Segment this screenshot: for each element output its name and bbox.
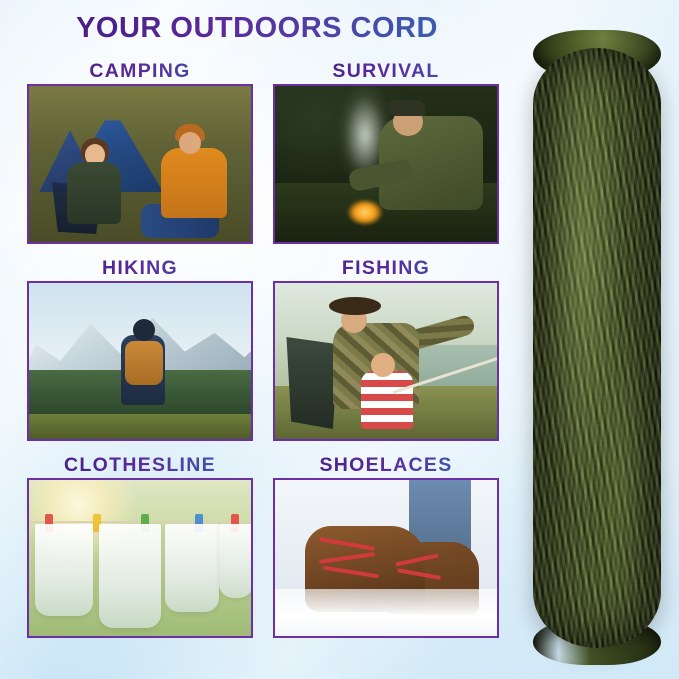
photo-clothesline — [27, 478, 253, 638]
photo-survival — [273, 84, 499, 244]
hanging-garment — [165, 524, 219, 612]
use-case-hiking: HIKING — [14, 255, 266, 452]
survival-man-cap — [387, 100, 425, 116]
survival-campfire — [342, 192, 388, 226]
photo-shoelaces — [273, 478, 499, 638]
page-title: YOUR OUTDOORS CORD — [0, 12, 514, 45]
product-infographic: YOUR OUTDOORS CORD CAMPING — [0, 0, 679, 679]
use-case-label-survival: SURVIVAL — [266, 58, 506, 84]
fishing-man-hat — [329, 297, 381, 315]
camping-woman-body — [67, 162, 121, 224]
hiker-backpack — [125, 341, 163, 385]
hiking-meadow — [29, 414, 251, 439]
use-case-label-camping: CAMPING — [14, 58, 266, 84]
product-image-paracord — [515, 0, 679, 679]
use-case-shoelaces: SHOELACES — [266, 452, 506, 649]
fishing-boy-body — [361, 371, 413, 429]
photo-hiking — [27, 281, 253, 441]
use-case-grid: CAMPING SURVIVAL — [14, 58, 506, 649]
paracord-highlight — [533, 48, 661, 648]
use-case-label-clothesline: CLOTHESLINE — [14, 452, 266, 478]
use-case-label-hiking: HIKING — [14, 255, 266, 281]
paracord-coil-body — [533, 48, 661, 648]
hanging-garment — [35, 524, 93, 616]
hanging-garment — [219, 524, 253, 598]
use-case-label-shoelaces: SHOELACES — [266, 452, 506, 478]
hiker-head — [133, 319, 155, 341]
hanging-garment — [99, 524, 161, 628]
camping-man-head — [179, 132, 201, 154]
fishing-boy-head — [371, 353, 395, 377]
use-case-clothesline: CLOTHESLINE — [14, 452, 266, 649]
photo-camping — [27, 84, 253, 244]
camping-man-body — [161, 148, 227, 218]
use-case-camping: CAMPING — [14, 58, 266, 255]
clothesline-rope — [29, 521, 251, 523]
use-case-survival: SURVIVAL — [266, 58, 506, 255]
use-case-fishing: FISHING — [266, 255, 506, 452]
photo-fishing — [273, 281, 499, 441]
use-case-label-fishing: FISHING — [266, 255, 506, 281]
shoelaces-snow-ground — [275, 589, 497, 636]
